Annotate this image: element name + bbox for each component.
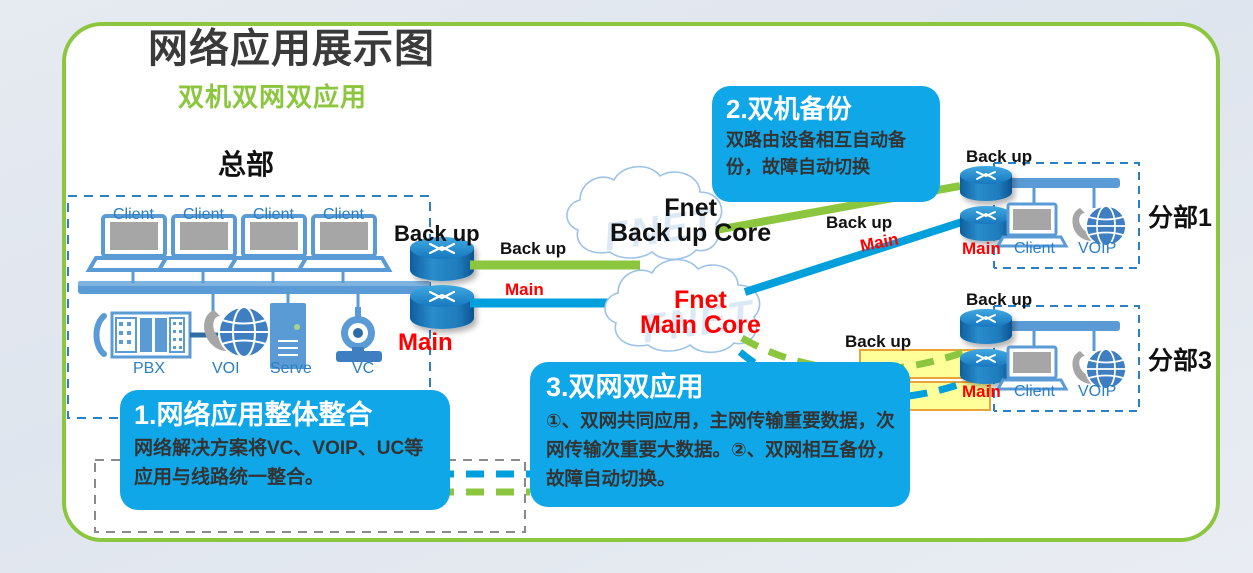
headquarters-title: 总部 [218, 150, 274, 179]
branch3-client-label: Client [1014, 383, 1056, 400]
branch1-client-label: Client [1014, 240, 1056, 257]
callout-2-body: 双路由设备相互自动备份，故障自动切换 [726, 127, 926, 181]
cloud-main-line2: Main Core [640, 311, 761, 339]
cloud-backup-line2: Back up Core [610, 219, 771, 247]
branch1-router-label-backup: Back up [966, 148, 1032, 166]
cloud-main-line1: Fnet [674, 286, 727, 314]
link-label-hq-backup: Back up [500, 240, 566, 258]
hq-client-label-3: Client [253, 206, 295, 223]
hq-device-label-vc: VC [352, 361, 374, 378]
callout-3[interactable]: 3.双网双应用 ①、双网共同应用，主网传输重要数据，次网传输次重要大数据。②、双… [530, 362, 910, 507]
branch1-title: 分部1 [1148, 205, 1212, 231]
hq-router-label-main: Main [398, 330, 453, 355]
branch3-voip-label: VOIP [1078, 383, 1120, 400]
link-label-branch3-backup: Back up [845, 333, 911, 351]
branch3-router-label-backup: Back up [966, 291, 1032, 309]
callout-1-title: 1.网络应用整体整合 [134, 398, 436, 432]
link-label-branch1-backup: Back up [826, 214, 892, 232]
callout-3-body: ①、双网共同应用，主网传输重要数据，次网传输次重要大数据。②、双网相互备份，故障… [546, 406, 896, 493]
callout-2-title: 2.双机备份 [726, 93, 926, 126]
hq-client-label-1: Client [113, 206, 155, 223]
branch1-voip-label: VOIP [1078, 240, 1120, 257]
cloud-main-core-label: FnetMain Core [640, 288, 761, 338]
callout-3-title: 3.双网双应用 [546, 370, 896, 405]
page-subtitle: 双机双网双应用 [178, 84, 367, 111]
link-label-hq-main: Main [505, 281, 544, 299]
callout-1[interactable]: 1.网络应用整体整合 网络解决方案将VC、VOIP、UC等应用与线路统一整合。 [120, 390, 450, 510]
hq-client-label-4: Client [323, 206, 365, 223]
branch3-title: 分部3 [1148, 348, 1212, 374]
branch1-router-label-main: Main [962, 240, 1001, 258]
callout-1-body: 网络解决方案将VC、VOIP、UC等应用与线路统一整合。 [134, 434, 436, 492]
cloud-backup-line1: Fnet [664, 194, 717, 222]
hq-device-label-server: Serve [270, 361, 312, 378]
hq-device-label-voip: VOI [212, 361, 240, 378]
page-title: 网络应用展示图 [148, 28, 435, 70]
callout-2[interactable]: 2.双机备份 双路由设备相互自动备份，故障自动切换 [712, 86, 940, 202]
branch3-router-label-main: Main [962, 383, 1001, 401]
hq-device-label-pbx: PBX [133, 361, 165, 378]
cloud-backup-core-label: FnetBack up Core [610, 196, 771, 246]
hq-client-label-2: Client [183, 206, 225, 223]
hq-router-label-backup: Back up [394, 222, 480, 245]
